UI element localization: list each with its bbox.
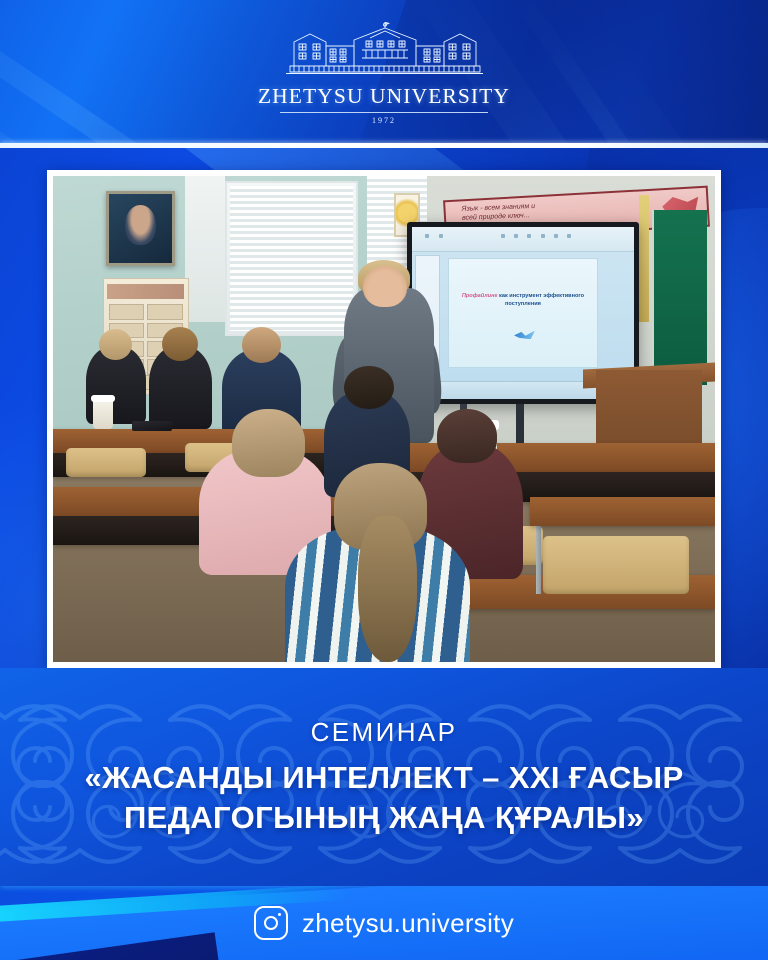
wall-poster-card [109,304,145,320]
audience-head-scarf [437,409,497,462]
presentation-toolbar [412,227,634,252]
instagram-icon[interactable] [254,906,288,940]
wall-portrait [106,191,176,266]
university-building-icon [282,22,487,82]
presenter-head [363,266,407,307]
seminar-classroom-photo: Язык - всем знаниям и всей природе ключ.… [53,176,715,662]
university-name: ZHETYSU UNIVERSITY [258,84,510,109]
window-blinds [230,186,352,332]
slide-logo-icon [514,331,535,340]
logo-divider [280,112,488,113]
gold-wall-strip [639,195,650,321]
university-logo: ZHETYSU UNIVERSITY 1972 [0,22,768,125]
window-curtain [185,176,225,322]
slide-body-text: как инструмент эффективного поступления [499,293,584,307]
audience-head [242,327,282,363]
footer-bar: zhetysu.university [0,886,768,960]
instagram-handle[interactable]: zhetysu.university [302,908,514,939]
poster-root: ZHETYSU UNIVERSITY 1972 [0,0,768,960]
chair-leg [536,526,541,594]
title-text-block: СЕМИНАР «ЖАСАНДЫ ИНТЕЛЛЕКТ – XXI ҒАСЫР П… [0,668,768,886]
audience-head [344,366,394,410]
slide-accent-word: Профайлинг [462,293,498,299]
event-type-label: СЕМИНАР [311,717,458,748]
green-chalkboard [652,210,707,385]
classroom-chair [66,448,145,477]
classroom-window [225,181,357,337]
classroom-desk [530,497,715,526]
wall-poster-card [147,304,183,320]
coffee-cup [93,400,113,429]
foreground-person-ponytail [358,516,418,662]
coffee-cup-lid [91,395,115,403]
event-title: «ЖАСАНДЫ ИНТЕЛЛЕКТ – XXI ҒАСЫР ПЕДАГОГЫН… [34,758,734,836]
header-banner: ZHETYSU UNIVERSITY 1972 [0,0,768,146]
seminar-photo-frame: Язык - всем знаниям и всей природе ключ.… [47,170,721,668]
smartphone [132,421,172,431]
social-handle-block[interactable]: zhetysu.university [0,886,768,960]
founded-year: 1972 [372,116,396,125]
wall-poster-title [107,284,184,299]
classroom-chair [543,536,689,594]
slide-text: Профайлинг как инструмент эффективного п… [461,292,586,309]
audience-head [232,409,305,477]
audience-head [162,327,198,361]
presentation-slide: Профайлинг как инструмент эффективного п… [448,258,599,368]
title-section: СЕМИНАР «ЖАСАНДЫ ИНТЕЛЛЕКТ – XXI ҒАСЫР П… [0,668,768,886]
